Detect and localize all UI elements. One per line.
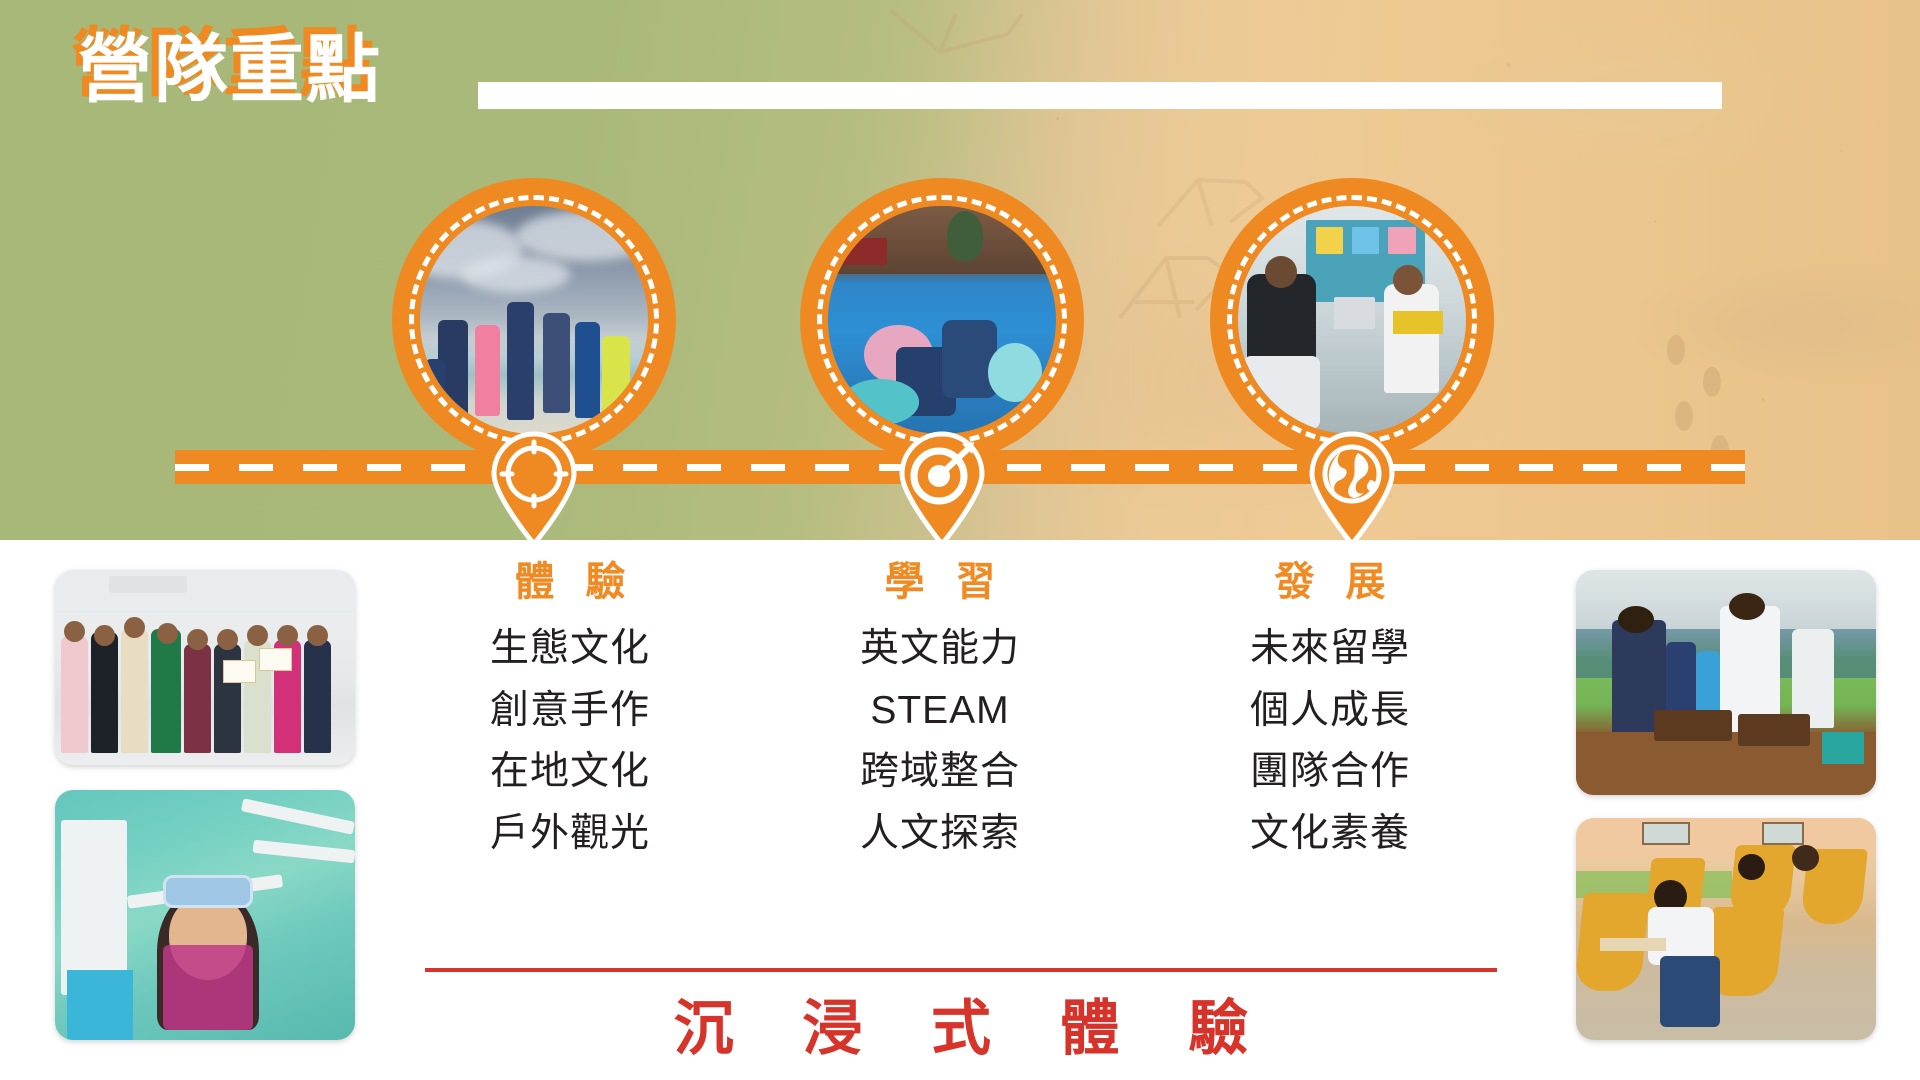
column-item: 個人成長 <box>1160 680 1500 742</box>
side-photo-camp-study <box>1576 818 1876 1040</box>
column-develop: 發 展 未來留學 個人成長 團隊合作 文化素養 <box>1160 554 1500 864</box>
side-photo-group <box>55 570 355 765</box>
node-photo-pool <box>828 206 1056 434</box>
side-photo-snorkel <box>55 790 355 1040</box>
column-item: 團隊合作 <box>1160 741 1500 803</box>
globe-icon <box>1306 430 1398 540</box>
column-heading: 學 習 <box>770 554 1110 610</box>
node-ring <box>800 178 1084 462</box>
node-ring <box>1210 178 1494 462</box>
feature-columns: 體 驗 生態文化 創意手作 在地文化 戶外觀光 學 習 英文能力 STEAM 跨… <box>400 554 1540 984</box>
column-item: 在地文化 <box>400 741 740 803</box>
journey-node-experience[interactable] <box>392 178 676 462</box>
footer-divider <box>425 968 1497 972</box>
column-heading: 體 驗 <box>400 554 740 610</box>
column-item: 創意手作 <box>400 680 740 742</box>
column-item: 文化素養 <box>1160 803 1500 865</box>
target-icon <box>896 430 988 540</box>
node-photo-beach <box>420 206 648 434</box>
slide-root: 營隊重點 <box>0 0 1920 1080</box>
column-item: 英文能力 <box>770 618 1110 680</box>
beach-chair-silhouette-3 <box>880 0 1030 70</box>
content-section: 體 驗 生態文化 創意手作 在地文化 戶外觀光 學 習 英文能力 STEAM 跨… <box>0 540 1920 1080</box>
journey-node-learn[interactable] <box>800 178 1084 462</box>
column-item: 人文探索 <box>770 803 1110 865</box>
title-underline-bar <box>478 82 1722 109</box>
column-item: STEAM <box>770 680 1110 742</box>
column-experience: 體 驗 生態文化 創意手作 在地文化 戶外觀光 <box>400 554 740 864</box>
banner-hero: 營隊重點 <box>0 0 1920 540</box>
column-learn: 學 習 英文能力 STEAM 跨域整合 人文探索 <box>770 554 1110 864</box>
footer-tagline: 沉 浸 式 體 驗 <box>425 988 1497 1069</box>
column-item: 跨域整合 <box>770 741 1110 803</box>
node-photo-classroom <box>1238 206 1466 434</box>
journey-node-develop[interactable] <box>1210 178 1494 462</box>
node-ring <box>392 178 676 462</box>
side-photo-food-activity <box>1576 570 1876 795</box>
column-heading: 發 展 <box>1160 554 1500 610</box>
column-item: 生態文化 <box>400 618 740 680</box>
banner-title-wrap: 營隊重點 <box>78 26 382 113</box>
compass-icon <box>488 430 580 540</box>
column-item: 戶外觀光 <box>400 803 740 865</box>
page-title: 營隊重點 <box>78 26 382 113</box>
column-item: 未來留學 <box>1160 618 1500 680</box>
